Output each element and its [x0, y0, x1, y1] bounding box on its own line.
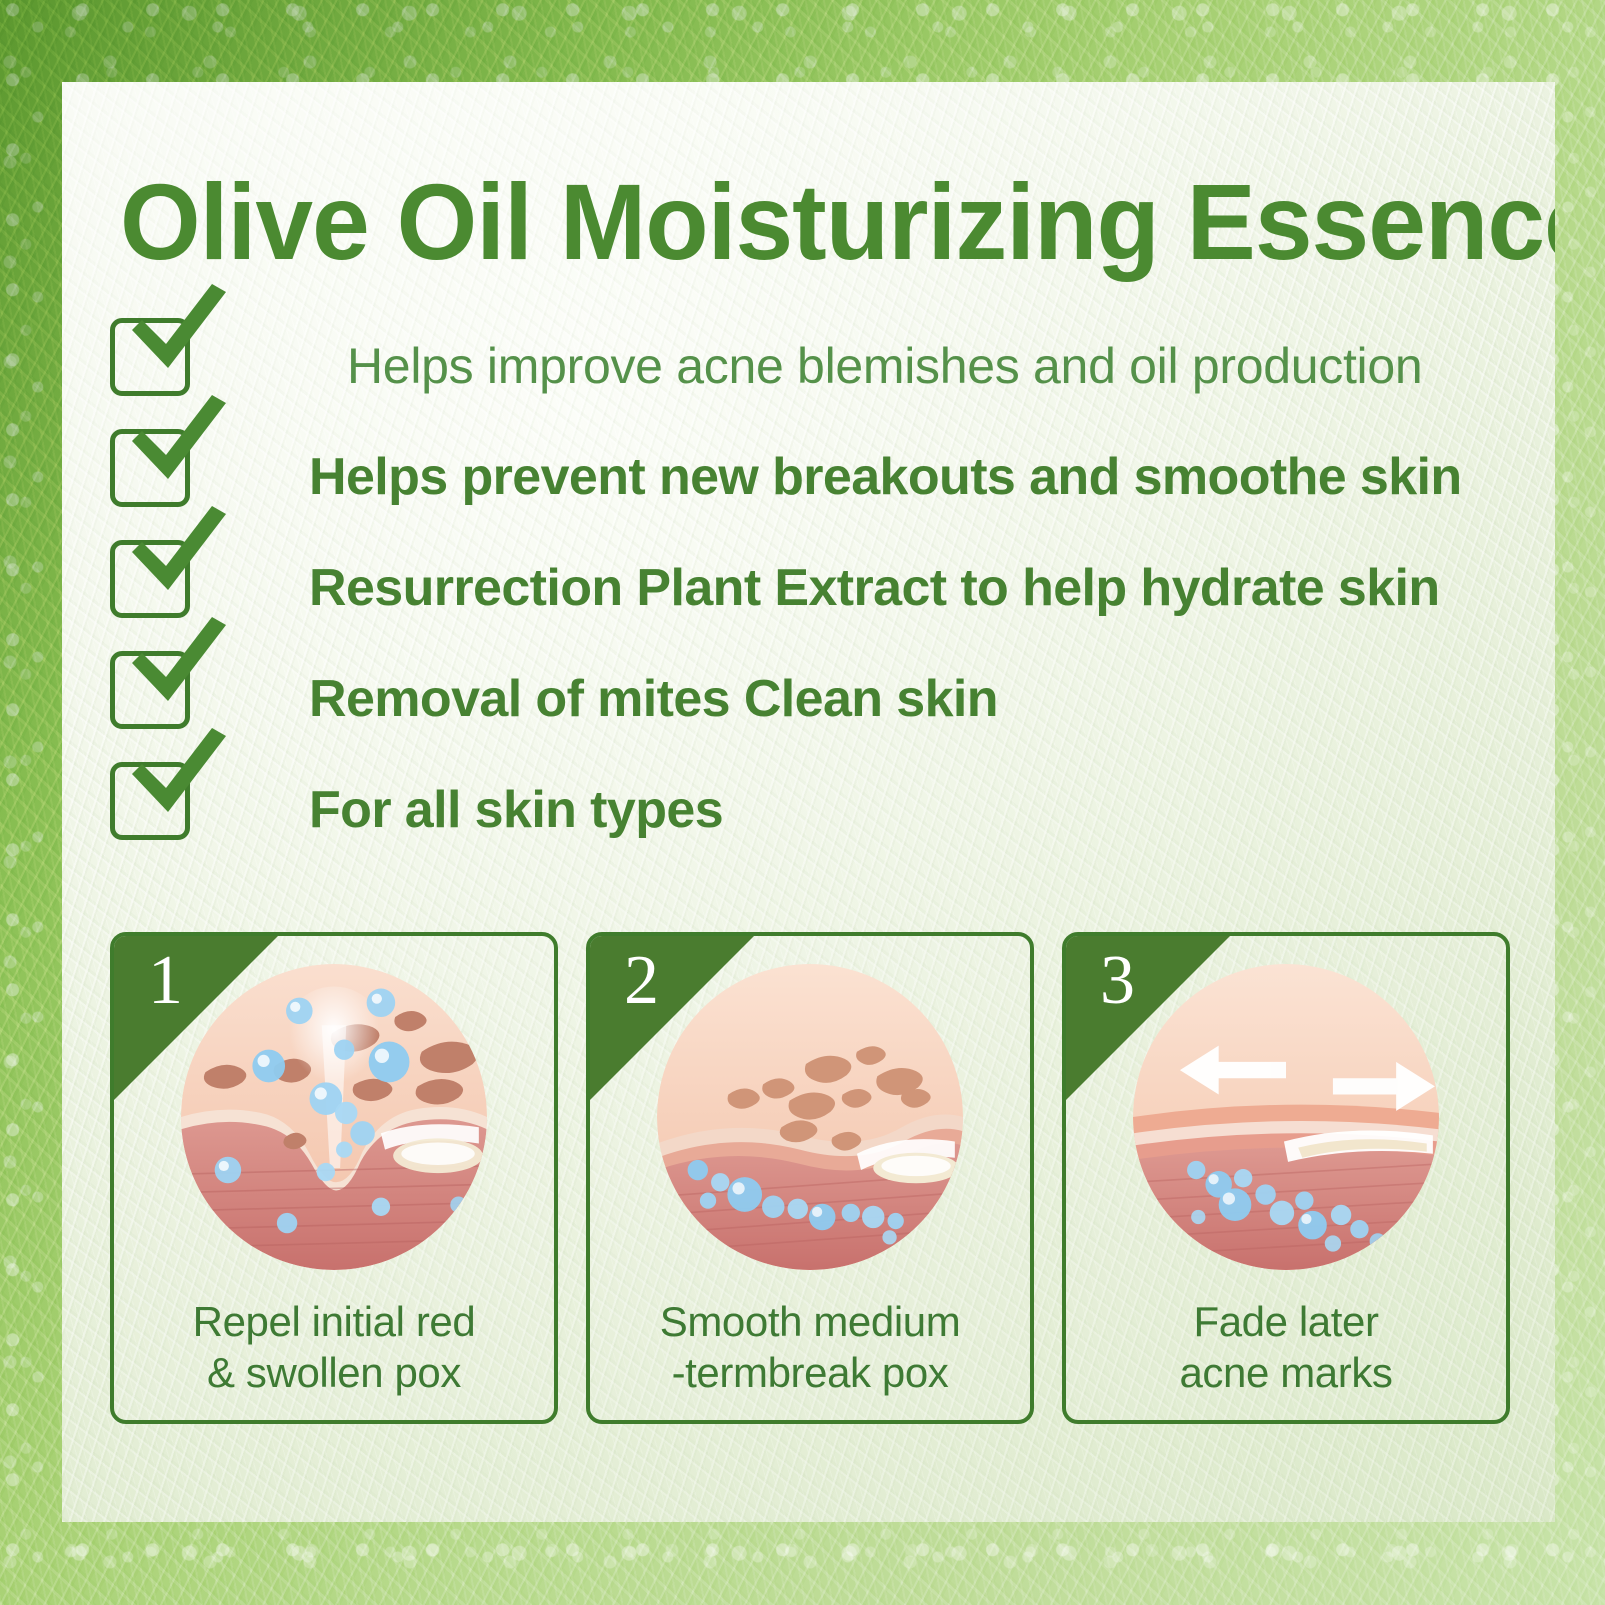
step-caption-line1: Repel initial red — [114, 1296, 554, 1347]
step-card: 1 — [110, 932, 558, 1424]
steps-row: 1 — [110, 932, 1510, 1424]
feature-item: Resurrection Plant Extract to help hydra… — [110, 532, 1510, 643]
checkbox-check-icon — [126, 615, 230, 719]
step-caption-line1: Fade later — [1066, 1296, 1506, 1347]
feature-label: Helps prevent new breakouts and smoothe … — [309, 447, 1462, 507]
step-card: 3 — [1062, 932, 1510, 1424]
checkbox-check-icon — [126, 504, 230, 608]
checkbox-check-icon — [126, 282, 230, 386]
step-number: 3 — [1100, 946, 1135, 1016]
checkbox-check-icon — [126, 393, 230, 497]
feature-item: For all skin types — [110, 754, 1510, 865]
feature-item: Helps improve acne blemishes and oil pro… — [110, 310, 1510, 421]
step-caption-line1: Smooth medium — [590, 1296, 1030, 1347]
step-number: 1 — [148, 946, 183, 1016]
step-card: 2 — [586, 932, 1034, 1424]
content-panel: Olive Oil Moisturizing Essence Helps imp… — [62, 82, 1555, 1522]
feature-label: Removal of mites Clean skin — [309, 669, 998, 729]
feature-label: For all skin types — [309, 780, 723, 840]
step-caption-line2: acne marks — [1066, 1347, 1506, 1398]
checkbox-check-icon — [126, 726, 230, 830]
step-caption: Fade later acne marks — [1066, 1296, 1506, 1398]
feature-item: Removal of mites Clean skin — [110, 643, 1510, 754]
step-number: 2 — [624, 946, 659, 1016]
skin-cross-section-bumps-icon — [657, 964, 963, 1270]
skin-cross-section-arrows-icon — [1133, 964, 1439, 1270]
feature-list: Helps improve acne blemishes and oil pro… — [110, 310, 1510, 865]
step-caption: Smooth medium -termbreak pox — [590, 1296, 1030, 1398]
step-caption: Repel initial red & swollen pox — [114, 1296, 554, 1398]
feature-label: Helps improve acne blemishes and oil pro… — [347, 337, 1422, 395]
feature-item: Helps prevent new breakouts and smoothe … — [110, 421, 1510, 532]
feature-label: Resurrection Plant Extract to help hydra… — [309, 558, 1440, 618]
step-caption-line2: -termbreak pox — [590, 1347, 1030, 1398]
skin-cross-section-with-droplets-icon — [181, 964, 487, 1270]
step-caption-line2: & swollen pox — [114, 1347, 554, 1398]
page-title: Olive Oil Moisturizing Essence — [120, 168, 1555, 276]
